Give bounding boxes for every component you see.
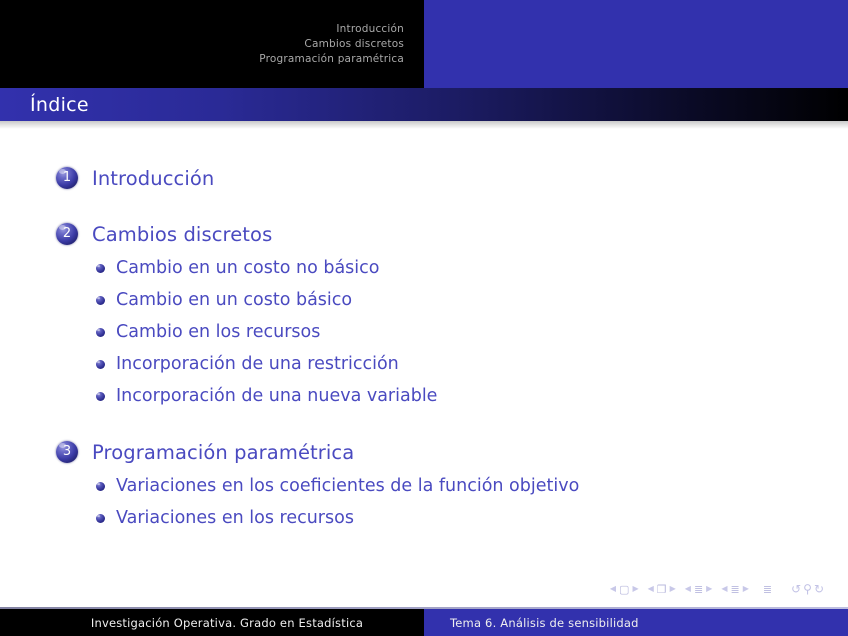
- next-section-icon[interactable]: ▶: [743, 585, 749, 593]
- toc-section[interactable]: 3 Programación paramétrica Variaciones e…: [0, 436, 848, 534]
- section-number-ball-icon: 1: [56, 167, 78, 189]
- section-number-ball-icon: 3: [56, 441, 78, 463]
- section-number: 1: [63, 170, 71, 185]
- toc-subsection-label[interactable]: Cambio en un costo no básico: [116, 258, 379, 278]
- table-of-contents: 1 Introducción 2 Cambios discretos Cambi…: [0, 129, 848, 534]
- bullet-ball-icon: [96, 296, 105, 305]
- bullet-ball-icon: [96, 392, 105, 401]
- toc-section-header[interactable]: 2 Cambios discretos: [0, 218, 848, 250]
- toc-section-label[interactable]: Programación paramétrica: [92, 441, 354, 464]
- toc-subsection-label[interactable]: Incorporación de una nueva variable: [116, 386, 437, 406]
- toc-section-header[interactable]: 3 Programación paramétrica: [0, 436, 848, 468]
- toc-subsection[interactable]: Cambio en un costo básico: [0, 284, 848, 316]
- toc-subsection-label[interactable]: Variaciones en los recursos: [116, 508, 354, 528]
- nav-section-group[interactable]: ◀ ≣ ▶: [721, 584, 749, 595]
- previous-frame-icon[interactable]: ◀: [648, 585, 654, 593]
- toc-subsection-label[interactable]: Incorporación de una restricción: [116, 354, 399, 374]
- toc-section[interactable]: 2 Cambios discretos Cambio en un costo n…: [0, 218, 848, 412]
- toc-section-label[interactable]: Cambios discretos: [92, 223, 272, 246]
- previous-subsection-icon[interactable]: ◀: [685, 585, 691, 593]
- section-number: 2: [63, 226, 71, 241]
- slide-content: 1 Introducción 2 Cambios discretos Cambi…: [0, 129, 848, 577]
- nav-history-group[interactable]: ↺ ⚲ ↻: [791, 583, 824, 595]
- headline-nav-item-introduccion[interactable]: Introducción: [336, 22, 404, 37]
- toc-subsection-list: Variaciones en los coeficientes de la fu…: [0, 470, 848, 534]
- bullet-ball-icon: [96, 514, 105, 523]
- toc-subsection-list: Cambio en un costo no básico Cambio en u…: [0, 252, 848, 412]
- headline-nav-item-cambios-discretos[interactable]: Cambios discretos: [304, 37, 404, 52]
- toc-subsection[interactable]: Incorporación de una restricción: [0, 348, 848, 380]
- forward-icon[interactable]: ↻: [814, 583, 824, 595]
- bullet-ball-icon: [96, 328, 105, 337]
- search-icon[interactable]: ⚲: [803, 583, 812, 595]
- next-slide-icon[interactable]: ▶: [632, 585, 638, 593]
- slide-footline: Investigación Operativa. Grado en Estadí…: [0, 609, 848, 636]
- nav-frame-group[interactable]: ◀ ❐ ▶: [648, 584, 676, 595]
- frame-title: Índice: [30, 94, 89, 116]
- bullet-ball-icon: [96, 482, 105, 491]
- slide-icon[interactable]: ▢: [619, 584, 629, 595]
- toc-section-header[interactable]: 1 Introducción: [0, 162, 848, 194]
- footline-author-course: Investigación Operativa. Grado en Estadí…: [91, 616, 363, 630]
- headline-nav-titles: Introducción Cambios discretos Programac…: [0, 0, 424, 88]
- title-bar-shadow: [0, 121, 848, 129]
- footline-left-panel: Investigación Operativa. Grado en Estadí…: [0, 609, 424, 636]
- footline-topic-title: Tema 6. Análisis de sensibilidad: [450, 616, 639, 630]
- toc-subsection[interactable]: Incorporación de una nueva variable: [0, 380, 848, 412]
- subsection-icon[interactable]: ≣: [694, 584, 703, 595]
- previous-slide-icon[interactable]: ◀: [610, 585, 616, 593]
- bullet-ball-icon: [96, 264, 105, 273]
- section-number-ball-icon: 2: [56, 223, 78, 245]
- frame-title-bar: Índice: [0, 88, 848, 121]
- nav-subsection-group[interactable]: ◀ ≣ ▶: [685, 584, 713, 595]
- next-frame-icon[interactable]: ▶: [670, 585, 676, 593]
- back-icon[interactable]: ↺: [791, 583, 801, 595]
- nav-slide-group[interactable]: ◀ ▢ ▶: [610, 584, 639, 595]
- toc-subsection[interactable]: Variaciones en los recursos: [0, 502, 848, 534]
- section-icon[interactable]: ≣: [730, 584, 739, 595]
- toc-section[interactable]: 1 Introducción: [0, 162, 848, 194]
- toc-subsection[interactable]: Cambio en los recursos: [0, 316, 848, 348]
- toc-subsection-label[interactable]: Variaciones en los coeficientes de la fu…: [116, 476, 579, 496]
- section-number: 3: [63, 444, 71, 459]
- beamer-navigation-symbols[interactable]: ◀ ▢ ▶ ◀ ❐ ▶ ◀ ≣ ▶ ◀ ≣ ▶ ≣ ↺ ⚲ ↻: [610, 583, 824, 595]
- headline-right-panel: [424, 0, 848, 88]
- toc-subsection[interactable]: Variaciones en los coeficientes de la fu…: [0, 470, 848, 502]
- toc-subsection-label[interactable]: Cambio en los recursos: [116, 322, 320, 342]
- next-subsection-icon[interactable]: ▶: [706, 585, 712, 593]
- toc-subsection[interactable]: Cambio en un costo no básico: [0, 252, 848, 284]
- toc-subsection-label[interactable]: Cambio en un costo básico: [116, 290, 352, 310]
- section-spacer: [0, 201, 848, 218]
- headline-nav-item-programacion-parametrica[interactable]: Programación paramétrica: [259, 52, 404, 67]
- toc-section-label[interactable]: Introducción: [92, 167, 214, 190]
- footline-right-panel: Tema 6. Análisis de sensibilidad: [424, 609, 848, 636]
- previous-section-icon[interactable]: ◀: [721, 585, 727, 593]
- frame-icon[interactable]: ❐: [657, 584, 667, 595]
- bullet-ball-icon: [96, 360, 105, 369]
- document-icon[interactable]: ≣: [763, 584, 772, 595]
- section-spacer: [0, 419, 848, 436]
- slide-headline: Introducción Cambios discretos Programac…: [0, 0, 848, 88]
